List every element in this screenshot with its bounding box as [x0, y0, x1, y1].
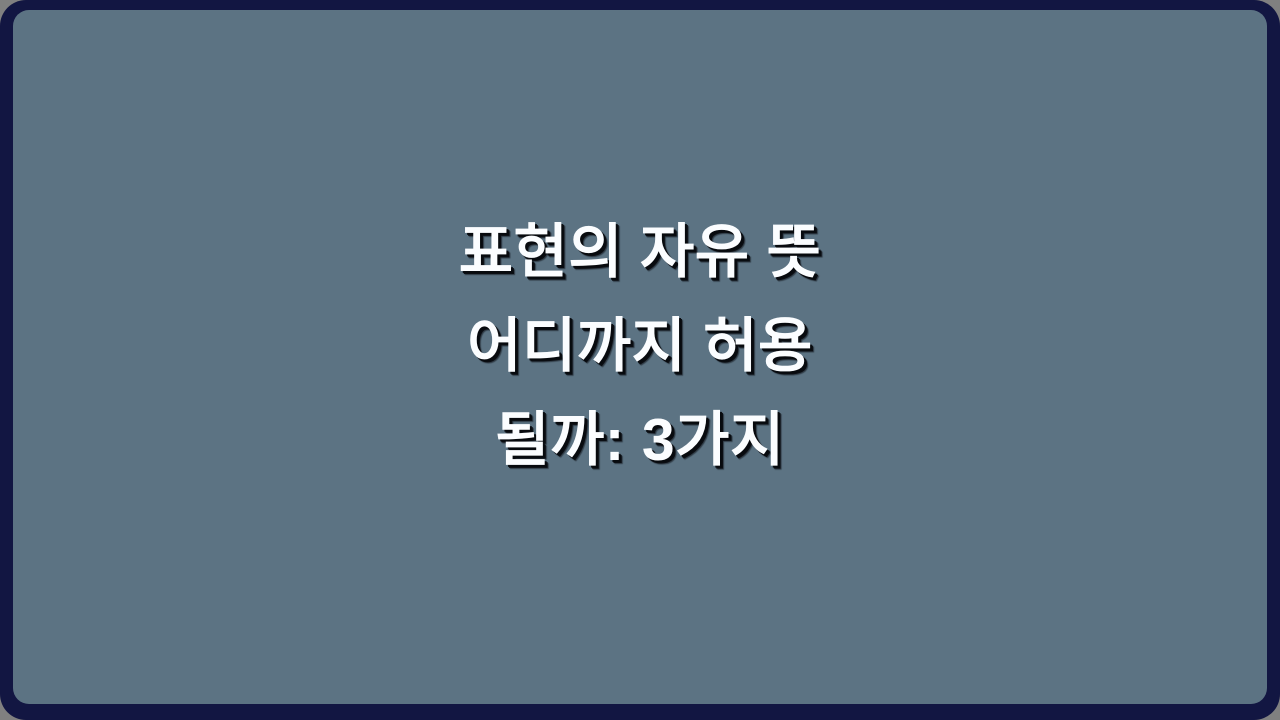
slide-canvas: 표현의 자유 뜻 어디까지 허용 될까: 3가지: [13, 10, 1267, 704]
title-line-2: 어디까지 허용: [13, 299, 1267, 393]
title-block: 표현의 자유 뜻 어디까지 허용 될까: 3가지: [13, 10, 1267, 704]
title-line-3: 될까: 3가지: [13, 393, 1267, 487]
title-line-1: 표현의 자유 뜻: [13, 205, 1267, 299]
slide-root: 표현의 자유 뜻 어디까지 허용 될까: 3가지: [0, 0, 1280, 720]
slide-frame-border: 표현의 자유 뜻 어디까지 허용 될까: 3가지: [0, 0, 1280, 720]
